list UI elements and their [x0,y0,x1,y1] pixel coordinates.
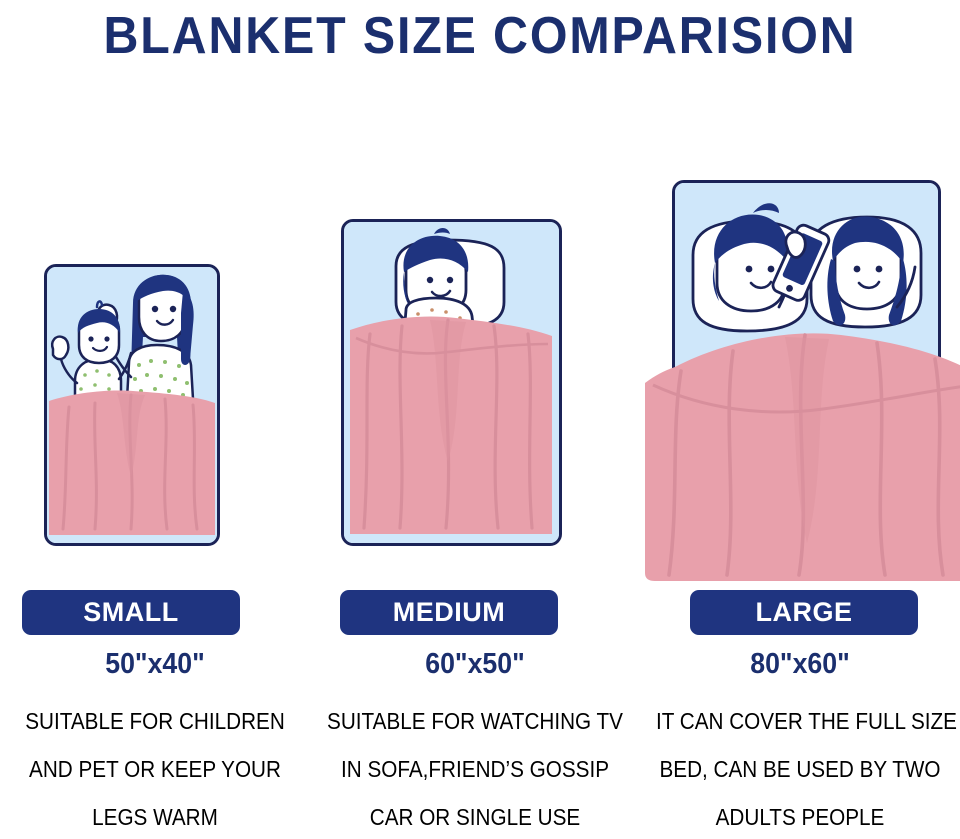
illustration-panel-medium [341,219,562,546]
size-column-large: LARGE 80"x60" IT CAN COVER THE FULL SIZE… [640,0,960,839]
size-badge-label-medium: MEDIUM [393,597,506,628]
size-badge-small[interactable]: SMALL [22,590,240,635]
description-line-medium-2: IN SOFA,FRIEND’S GOSSIP [327,756,624,783]
blanket-large-overflow [645,323,960,583]
size-badge-medium[interactable]: MEDIUM [340,590,558,635]
description-line-medium-1: SUITABLE FOR WATCHING TV [327,708,624,735]
illustration-panel-large [672,180,941,546]
blanket-size-comparison-infographic: BLANKET SIZE COMPARISION [0,0,960,839]
description-line-small-1: SUITABLE FOR CHILDREN [16,708,295,735]
description-line-medium-3: CAR OR SINGLE USE [327,804,624,831]
panel-inner-small [47,267,217,543]
description-line-large-3: ADULTS PEOPLE [656,804,944,831]
panel-inner-medium [344,222,559,543]
description-line-small-2: AND PET OR KEEP YOUR [16,756,295,783]
dimensions-medium: 60"x50" [323,648,627,681]
description-line-small-3: LEGS WARM [16,804,295,831]
size-column-small: SMALL 50"x40" SUITABLE FOR CHILDREN AND … [0,0,310,839]
illustration-single-person-on-pillow-under-blanket [344,222,559,543]
illustration-woman-and-child-under-blanket [47,267,217,543]
size-badge-large[interactable]: LARGE [690,590,918,635]
dimensions-small: 50"x40" [12,648,297,681]
description-line-large-2: BED, CAN BE USED BY TWO [656,756,944,783]
size-column-medium: MEDIUM 60"x50" SUITABLE FOR WATCHING TV … [310,0,640,839]
size-badge-label-large: LARGE [756,597,853,628]
illustration-panel-small [44,264,220,546]
dimensions-large: 80"x60" [653,648,947,681]
description-line-large-1: IT CAN COVER THE FULL SIZE [656,708,944,735]
size-badge-label-small: SMALL [83,597,178,628]
